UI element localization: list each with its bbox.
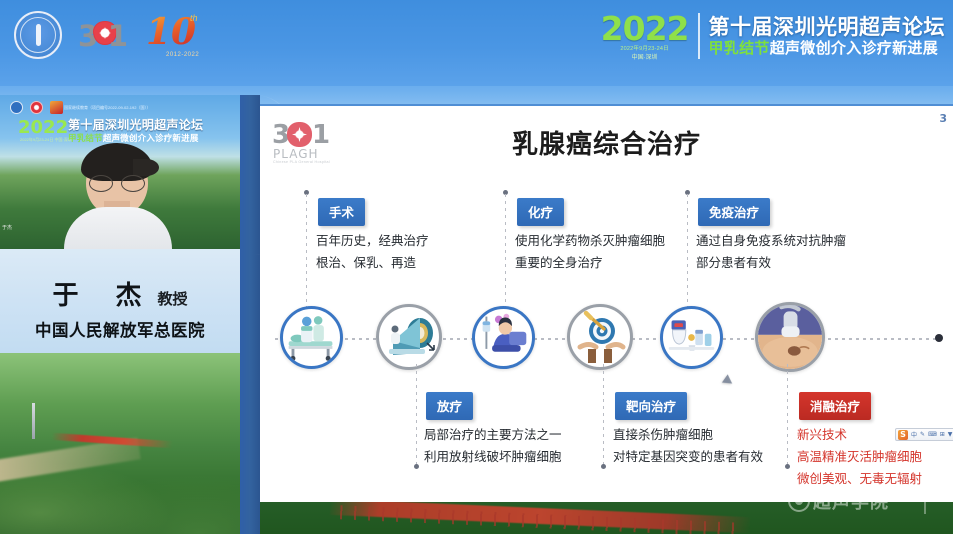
targeted-therapy-dartboard-icon — [570, 307, 630, 367]
connector-line-chemo — [505, 194, 506, 316]
301-hospital-logo-icon: 3 1 — [78, 13, 130, 57]
ime-pen-icon[interactable]: ✎ — [920, 431, 925, 438]
video-logo-group — [10, 101, 63, 114]
banner-sub-title: 甲乳结节超声微创介入诊疗新进展 — [709, 41, 946, 57]
anniversary-years: 2012-2022 — [166, 52, 199, 58]
banner-location: 中国·深圳 — [601, 55, 689, 61]
banner-main-title: 第十届深圳光明超声论坛 — [709, 16, 946, 38]
speaker-organization: 中国人民解放军总医院 — [0, 317, 240, 341]
tag-immunotherapy: 免疫治疗 — [698, 198, 770, 226]
tag-targeted-therapy: 靶向治疗 — [615, 392, 687, 420]
sidebar-tower — [32, 403, 35, 439]
banner-sub-title-highlight: 甲乳结节 — [709, 40, 770, 57]
desc-ablation-line2: 高温精准灭活肿瘤细胞 — [797, 447, 922, 468]
speaker-body — [64, 207, 172, 249]
radiotherapy-ct-scanner-icon — [379, 307, 439, 367]
watermark: 超声学院 — [788, 488, 889, 514]
banner-text-block: 第十届深圳光明超声论坛 甲乳结节超声微创介入诊疗新进展 — [709, 16, 946, 57]
speaker-avatar — [58, 145, 178, 249]
anniversary-number: 10 — [146, 11, 196, 53]
sidebar-scenery — [0, 353, 240, 534]
tag-surgery: 手术 — [318, 198, 365, 226]
watermark-text: 超声学院 — [813, 488, 889, 514]
connector-line-surgery — [306, 194, 307, 316]
banner-divider — [698, 13, 700, 59]
video-logo-301-icon — [30, 101, 43, 114]
watermark-wave-icon — [896, 484, 926, 514]
desc-targeted-line2: 对特定基因突变的患者有效 — [613, 447, 763, 468]
video-logo-hospital-icon — [10, 101, 23, 114]
banner-logo-group: 3 1 10 th 2012-2022 — [14, 11, 204, 59]
video-subtitle-highlight: 甲乳结节 — [68, 133, 103, 143]
sogou-ime-toolbar[interactable]: S 中 ✎ ⌨ ⊞ ▼ — [895, 428, 953, 441]
speaker-name-row: 于 杰教授 — [0, 249, 240, 312]
desc-radio-line2: 利用放射线破坏肿瘤细胞 — [424, 447, 562, 468]
anniversary-logo-icon: 10 th 2012-2022 — [146, 11, 204, 59]
tag-ablation: 消融治疗 — [799, 392, 871, 420]
banner-year-block: 2022 2022年9月23-24日 中国·深圳 — [601, 12, 689, 61]
video-year: 2022 — [18, 119, 68, 137]
screen-root: 3 1 10 th 2012-2022 2022 2022年9月23-24日 中… — [0, 0, 953, 534]
hospital-emblem-logo-icon — [14, 11, 62, 59]
conference-banner: 3 1 10 th 2012-2022 2022 2022年9月23-24日 中… — [0, 0, 953, 86]
speaker-title: 教授 — [158, 290, 188, 308]
logo-301-digit-1: 1 — [108, 19, 128, 53]
immunotherapy-medicine-icon — [663, 309, 720, 366]
anniversary-suffix: th — [190, 13, 198, 23]
node-radiotherapy[interactable] — [376, 304, 442, 370]
ime-keyboard-icon[interactable]: ⌨ — [928, 431, 937, 438]
ime-panel-icon[interactable]: ⊞ — [940, 431, 945, 438]
chemotherapy-iv-patient-icon — [475, 309, 532, 366]
speaker-glasses-icon — [89, 175, 145, 190]
ime-logo-icon[interactable]: S — [898, 430, 908, 440]
connector-dot-ablation — [785, 464, 790, 469]
surgery-operating-table-icon — [283, 309, 340, 366]
desc-surgery-line1: 百年历史，经典治疗 — [316, 231, 429, 252]
video-logo-anniversary-icon — [50, 101, 63, 114]
video-top-line: 国家继续教育（项目编号2022-09-02-192（国）） — [64, 105, 150, 111]
ime-mode-icon[interactable]: 中 — [911, 430, 917, 439]
connector-dot-radiotherapy — [414, 464, 419, 469]
connector-line-radiotherapy — [416, 364, 417, 468]
banner-title-group: 2022 2022年9月23-24日 中国·深圳 第十届深圳光明超声论坛 甲乳结… — [601, 12, 945, 61]
video-subtitle: 甲乳结节超声微创介入诊疗新进展 — [68, 132, 199, 144]
speaker-name: 于 杰 — [52, 275, 155, 312]
desc-chemo-line1: 使用化学药物杀灭肿瘤细胞 — [515, 231, 665, 252]
desc-surgery-line2: 根治、保乳、再造 — [316, 253, 416, 274]
desc-immuno-line2: 部分患者有效 — [696, 253, 771, 274]
banner-sub-title-rest: 超声微创介入诊疗新进展 — [770, 40, 938, 57]
ablation-ultrasound-probe-icon — [758, 305, 822, 369]
node-chemotherapy[interactable] — [472, 306, 535, 369]
ime-menu-chevron-icon[interactable]: ▼ — [948, 431, 953, 438]
desc-radio-line1: 局部治疗的主要方法之一 — [424, 425, 562, 446]
speaker-info-card: 于 杰教授 中国人民解放军总医院 — [0, 249, 240, 353]
tag-radiotherapy: 放疗 — [426, 392, 473, 420]
video-corner-tag: 于杰 — [2, 224, 12, 231]
banner-year: 2022 — [601, 12, 689, 45]
sidebar-slide-gutter — [240, 95, 260, 534]
desc-chemo-line2: 重要的全身治疗 — [515, 253, 603, 274]
node-surgery[interactable] — [280, 306, 343, 369]
broadcast-ring-icon — [788, 490, 810, 512]
video-title: 第十届深圳光明超声论坛 — [68, 116, 203, 133]
desc-targeted-line1: 直接杀伤肿瘤细胞 — [613, 425, 713, 446]
connector-line-immuno — [687, 194, 688, 316]
node-ablation[interactable] — [755, 302, 825, 372]
connector-dot-targeted — [601, 464, 606, 469]
node-targeted-therapy[interactable] — [567, 304, 633, 370]
presentation-slide[interactable]: 3 3 1 PLAGH Chinese PLA General Hospital… — [260, 104, 953, 502]
connector-line-targeted — [603, 364, 604, 468]
video-subtitle-rest: 超声微创介入诊疗新进展 — [103, 133, 199, 143]
slide-title: 乳腺癌综合治疗 — [260, 124, 953, 161]
node-immunotherapy[interactable] — [660, 306, 723, 369]
desc-ablation-line1: 新兴技术 — [797, 425, 847, 446]
connector-line-ablation — [787, 364, 788, 468]
desc-immuno-line1: 通过自身免疫系统对抗肿瘤 — [696, 231, 846, 252]
tag-chemotherapy: 化疗 — [517, 198, 564, 226]
timeline-end-dot — [935, 334, 943, 342]
video-year-sub: 2022年9月23-24日 中国·深圳 — [20, 137, 72, 143]
